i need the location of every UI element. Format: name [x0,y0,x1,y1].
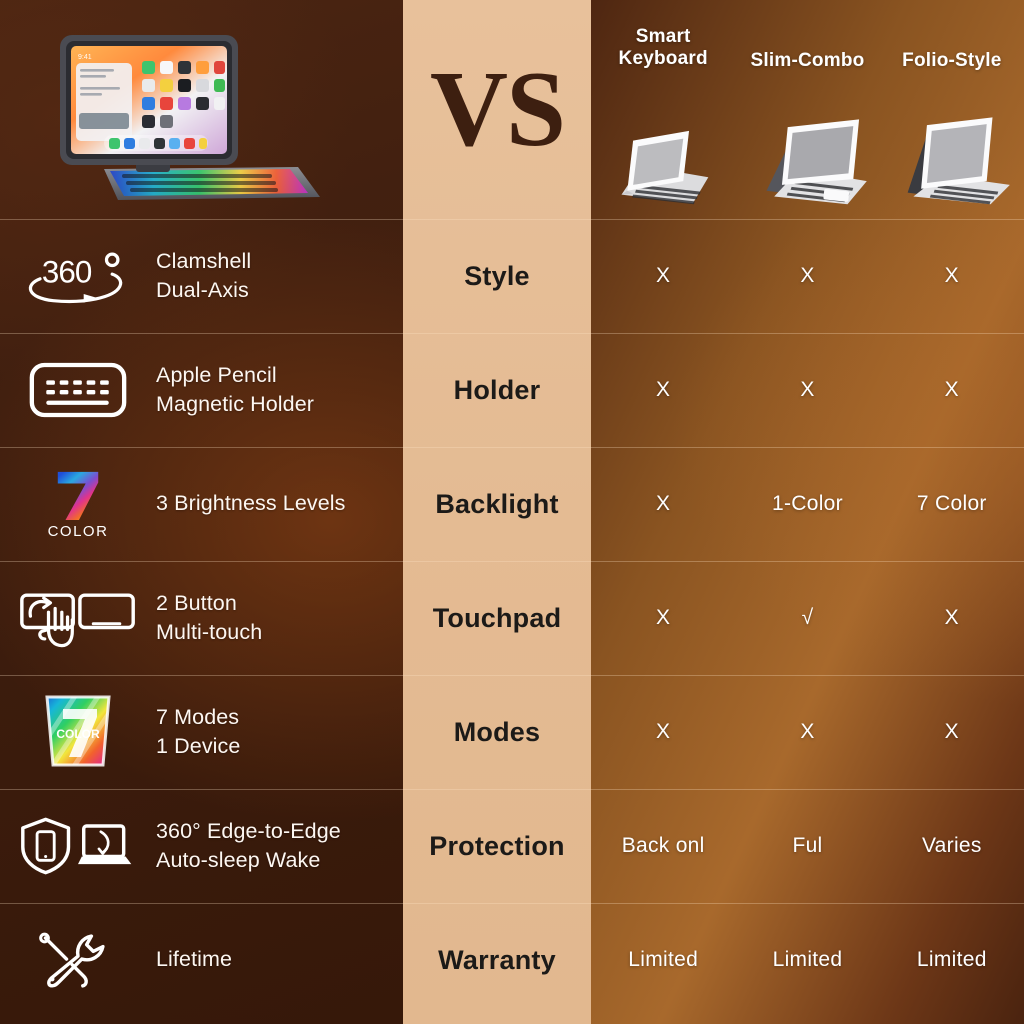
touchpad-multitouch-icon [18,575,138,661]
value-backlight-smart-keyboard: X [591,492,735,516]
feature-text-touchpad: 2 Button Multi-touch [156,589,262,647]
value-style-smart-keyboard: X [591,264,735,288]
feature-line2: Magnetic Holder [156,390,314,419]
badge-caption: COLOR [56,727,100,741]
competitor-image-smart-keyboard [591,95,735,210]
value-holder-slim-combo: X [735,378,879,402]
feature-cell-protection: 360° Edge-to-Edge Auto-sleep Wake [0,789,403,903]
category-label-holder: Holder [403,333,591,447]
competitor-header-line1: Slim-Combo [735,50,879,72]
competitor-header-line1: Smart [591,26,735,48]
category-label-warranty: Warranty [403,903,591,1017]
category-label-modes: Modes [403,675,591,789]
row-divider [0,447,1024,448]
value-row-holder: X X X [591,333,1024,447]
value-warranty-smart-keyboard: Limited [591,948,735,972]
value-touchpad-smart-keyboard: X [591,606,735,630]
feature-line1: Clamshell [156,247,251,276]
feature-line1: 360° Edge-to-Edge [156,817,341,846]
value-touchpad-folio-style: X [880,606,1024,630]
value-warranty-folio-style: Limited [880,948,1024,972]
vs-badge: VS [403,0,591,219]
svg-text:360: 360 [42,255,92,290]
seven-color-caption: COLOR [48,523,109,540]
seven-color-badge-icon: COLOR [18,689,138,775]
shield-device-protection-icon [18,803,138,889]
value-protection-slim-combo: Ful [735,834,879,858]
feature-text-warranty: Lifetime [156,945,232,974]
competitor-header-slim-combo: Slim-Combo [735,26,879,72]
feature-line2: Multi-touch [156,618,262,647]
wrench-screwdriver-icon [18,917,138,1003]
competitor-image-slim-combo [735,95,879,210]
value-row-warranty: Limited Limited Limited [591,903,1024,1017]
rainbow-seven-numeral [52,468,104,522]
feature-line1: 3 Brightness Levels [156,489,346,518]
value-holder-folio-style: X [880,378,1024,402]
value-style-folio-style: X [880,264,1024,288]
feature-line1: Lifetime [156,945,232,974]
folio-style-illustration [884,102,1020,210]
feature-cell-holder: Apple Pencil Magnetic Holder [0,333,403,447]
value-row-style: X X X [591,219,1024,333]
competitor-header-folio-style: Folio-Style [880,26,1024,72]
competitor-image-folio-style [880,95,1024,210]
keyboard-pencil-holder-icon [18,347,138,433]
hero-product-image: 9:41 [0,0,403,219]
feature-cell-style: 360 Clamshell Dual-Axis [0,219,403,333]
row-divider [0,675,1024,676]
value-touchpad-slim-combo: √ [735,606,879,630]
category-label-protection: Protection [403,789,591,903]
category-label-style: Style [403,219,591,333]
competitor-header-smart-keyboard: Smart Keyboard [591,26,735,71]
smart-keyboard-illustration [600,102,726,210]
value-modes-smart-keyboard: X [591,720,735,744]
value-row-protection: Back onl Ful Varies [591,789,1024,903]
value-row-modes: X X X [591,675,1024,789]
value-modes-folio-style: X [880,720,1024,744]
feature-text-backlight: 3 Brightness Levels [156,489,346,518]
feature-cell-modes: COLOR 7 Modes 1 Device [0,675,403,789]
value-holder-smart-keyboard: X [591,378,735,402]
feature-line2: Dual-Axis [156,276,251,305]
row-divider [0,789,1024,790]
category-label-backlight: Backlight [403,447,591,561]
bottom-spacer-center [403,1017,591,1024]
category-label-touchpad: Touchpad [403,561,591,675]
value-style-slim-combo: X [735,264,879,288]
360-degree-rotation-icon: 360 [18,233,138,319]
value-backlight-folio-style: 7 Color [880,492,1024,516]
feature-text-modes: 7 Modes 1 Device [156,703,240,761]
value-warranty-slim-combo: Limited [735,948,879,972]
value-modes-slim-combo: X [735,720,879,744]
value-protection-smart-keyboard: Back onl [591,834,735,858]
feature-text-holder: Apple Pencil Magnetic Holder [156,361,314,419]
feature-cell-touchpad: 2 Button Multi-touch [0,561,403,675]
competitor-header-line1: Folio-Style [880,50,1024,72]
feature-line1: 2 Button [156,589,262,618]
value-protection-folio-style: Varies [880,834,1024,858]
competitor-header-line2: Keyboard [591,48,735,70]
row-divider [0,561,1024,562]
bottom-spacer-right [591,1017,1024,1024]
feature-cell-backlight: COLOR 3 Brightness Levels [0,447,403,561]
row-divider [0,333,1024,334]
status-time: 9:41 [78,54,92,61]
vs-label: VS [430,56,564,164]
competitor-header-group: Smart Keyboard Slim-Combo Folio-Style [591,0,1024,219]
feature-text-style: Clamshell Dual-Axis [156,247,251,305]
seven-color-icon: COLOR [18,461,138,547]
row-divider [0,219,1024,220]
feature-line1: Apple Pencil [156,361,314,390]
row-divider [0,903,1024,904]
feature-line1: 7 Modes [156,703,240,732]
slim-combo-illustration [739,102,875,210]
value-row-backlight: X 1-Color 7 Color [591,447,1024,561]
value-row-touchpad: X √ X [591,561,1024,675]
feature-line2: Auto-sleep Wake [156,846,341,875]
ipad-keyboard-case-illustration: 9:41 [52,17,352,202]
bottom-spacer-left [0,1017,403,1024]
value-backlight-slim-combo: 1-Color [735,492,879,516]
feature-cell-warranty: Lifetime [0,903,403,1017]
feature-text-protection: 360° Edge-to-Edge Auto-sleep Wake [156,817,341,875]
feature-line2: 1 Device [156,732,240,761]
comparison-infographic: 9:41 [0,0,1024,1024]
